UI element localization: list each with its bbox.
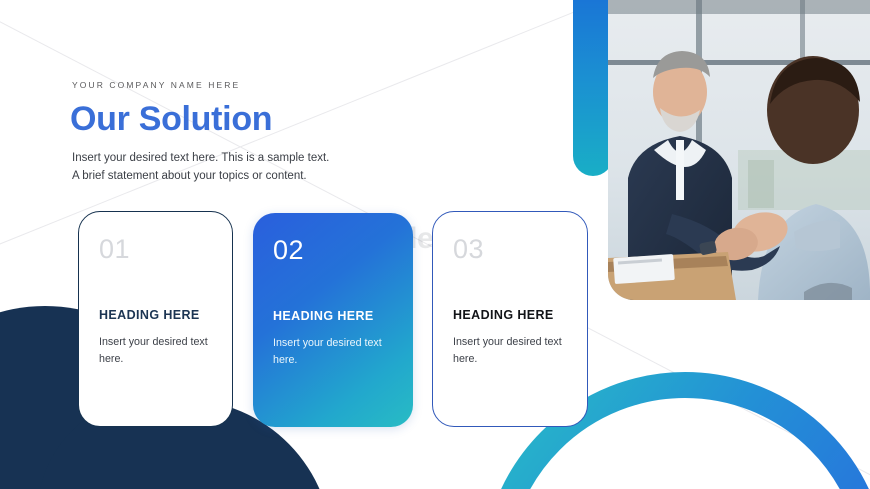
card-body-text: Insert your desired text here.: [273, 335, 393, 368]
card-number: 03: [453, 236, 567, 263]
gradient-strip-accent: [573, 0, 613, 176]
card-number: 02: [273, 237, 393, 264]
company-name-eyebrow: YOUR COMPANY NAME HERE: [72, 80, 240, 90]
card-body-text: Insert your desired text here.: [453, 334, 573, 367]
page-title: Our Solution: [70, 100, 272, 139]
feature-card-03[interactable]: 03 HEADING HERE Insert your desired text…: [432, 211, 588, 427]
feature-card-02[interactable]: 02 HEADING HERE Insert your desired text…: [253, 213, 413, 427]
subtitle-text: Insert your desired text here. This is a…: [72, 150, 432, 186]
handshake-photo: [608, 0, 870, 300]
card-heading: HEADING HERE: [99, 308, 200, 322]
feature-card-01[interactable]: 01 HEADING HERE Insert your desired text…: [78, 211, 233, 427]
card-body-text: Insert your desired text here.: [99, 334, 219, 367]
slide-canvas: SlideModel .com YOUR COMPANY NAME HERE O…: [0, 0, 870, 489]
card-number: 01: [99, 236, 212, 263]
card-heading: HEADING HERE: [453, 308, 554, 322]
card-heading: HEADING HERE: [273, 309, 374, 323]
